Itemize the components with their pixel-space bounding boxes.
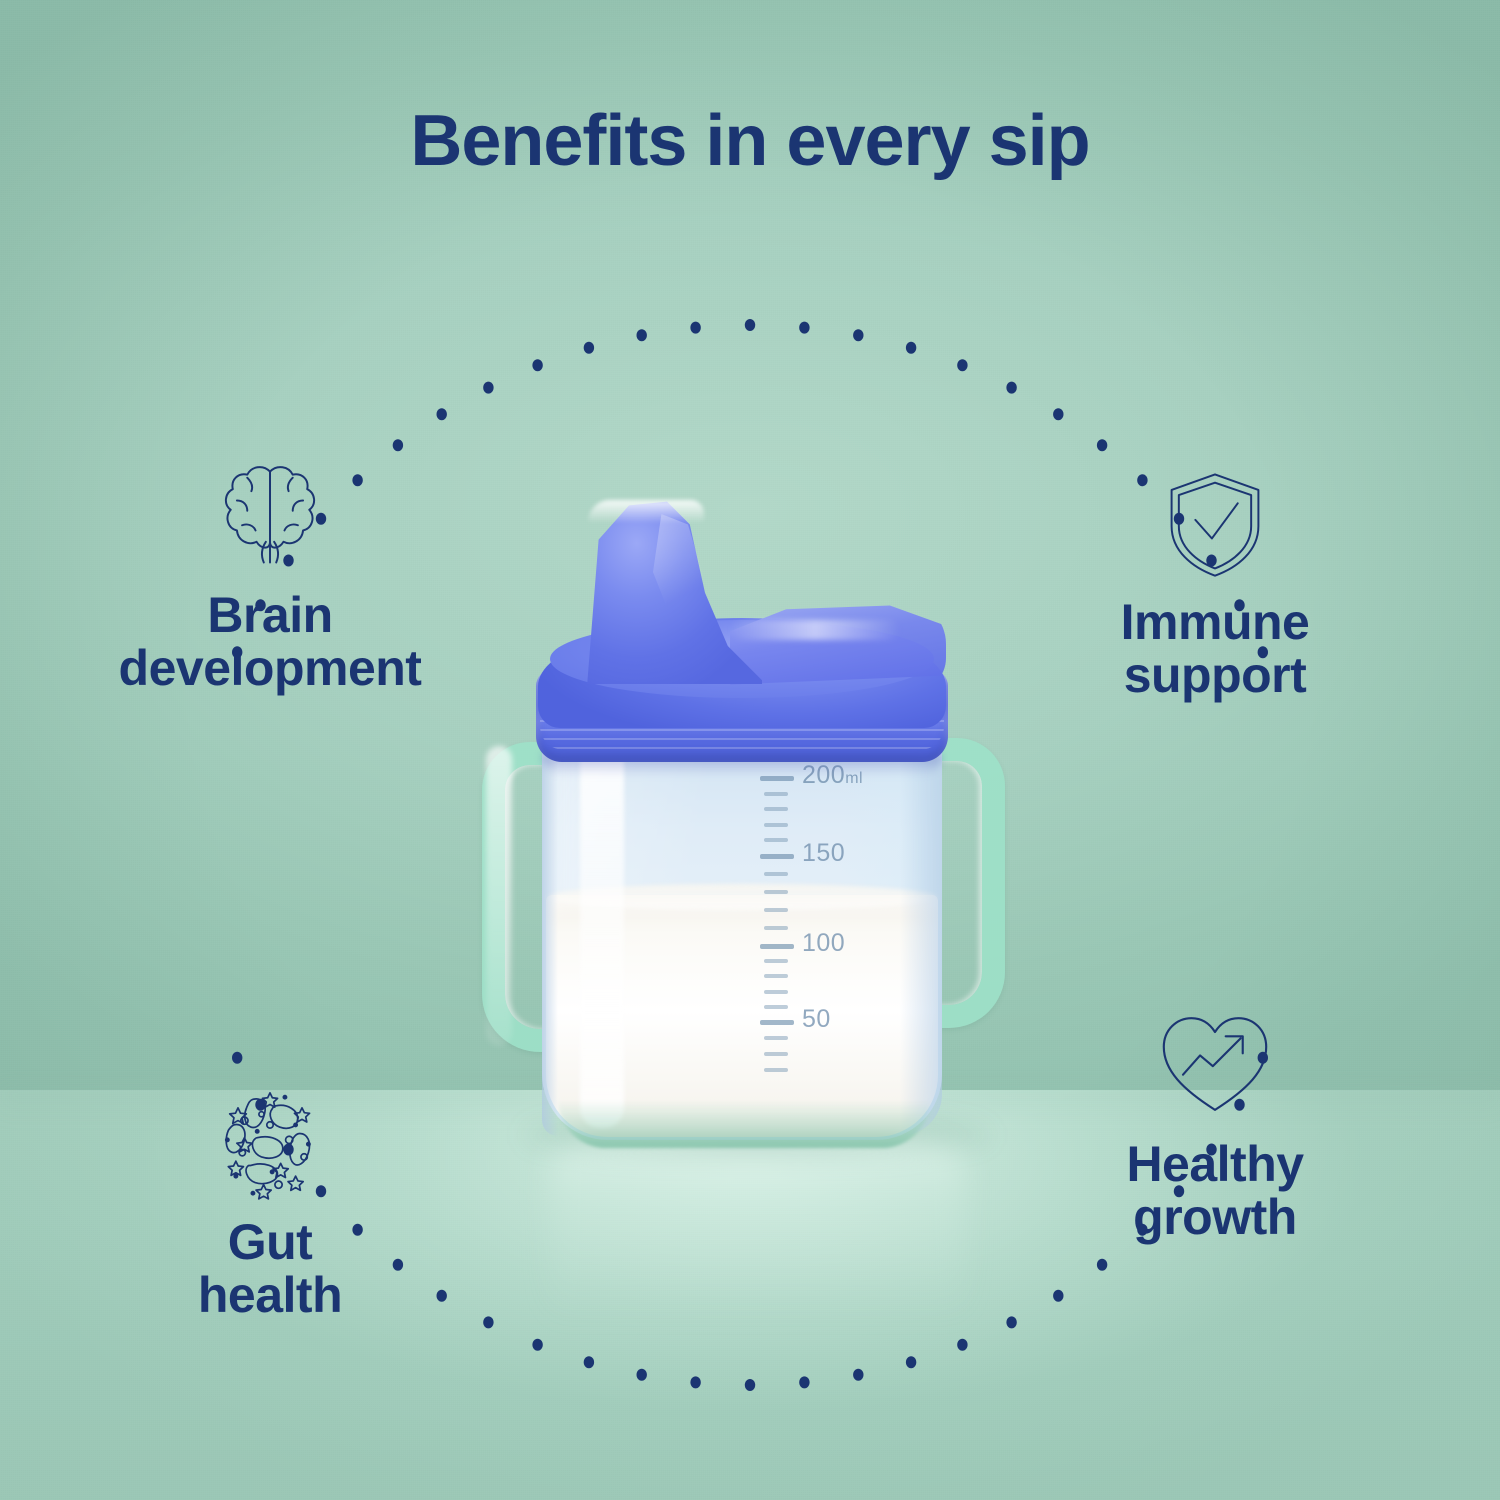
benefit-label-line1: Healthy bbox=[1126, 1136, 1303, 1192]
scale-tick-major bbox=[760, 944, 794, 949]
scale-label-100: 100 bbox=[802, 929, 845, 958]
scale-tick-major bbox=[760, 1020, 794, 1025]
cup-base bbox=[558, 1100, 930, 1148]
benefit-label-brain-development: Brain development bbox=[119, 589, 422, 695]
page-title: Benefits in every sip bbox=[0, 105, 1500, 177]
probiotic-bacteria-icon bbox=[206, 1078, 334, 1206]
brain-icon bbox=[208, 455, 332, 579]
benefit-item-gut-health: Gut health bbox=[55, 1078, 485, 1322]
cup-lid-shadow bbox=[542, 754, 942, 776]
benefit-label-line2: development bbox=[119, 640, 422, 696]
shield-check-icon bbox=[1153, 462, 1277, 586]
scale-tick-minor bbox=[764, 1005, 788, 1009]
scale-tick-major bbox=[760, 776, 794, 781]
scale-tick-minor bbox=[764, 890, 788, 894]
cup-handle-highlight bbox=[486, 746, 512, 1046]
benefit-label-line2: support bbox=[1124, 647, 1307, 703]
scale-tick-major bbox=[760, 854, 794, 859]
scale-tick-minor bbox=[764, 792, 788, 796]
scale-tick-minor bbox=[764, 823, 788, 827]
benefits-infographic: Benefits in every sip 200ml15010050 bbox=[0, 0, 1500, 1500]
benefit-label-line1: Brain bbox=[207, 587, 332, 643]
cup-lid-gloss bbox=[730, 620, 900, 640]
cup-measurement-scale: 200ml15010050 bbox=[760, 770, 950, 1100]
scale-tick-minor bbox=[764, 838, 788, 842]
benefit-label-line2: health bbox=[198, 1267, 342, 1323]
benefit-label-gut-health: Gut health bbox=[198, 1216, 342, 1322]
benefit-item-immune-support: Immune support bbox=[1000, 462, 1430, 702]
heart-growth-icon bbox=[1151, 1000, 1279, 1128]
benefit-label-immune-support: Immune support bbox=[1121, 596, 1310, 702]
benefit-label-line2: growth bbox=[1133, 1189, 1297, 1245]
scale-tick-minor bbox=[764, 872, 788, 876]
cup-body-highlight bbox=[580, 732, 624, 1128]
product-image-sippy-cup: 200ml15010050 bbox=[430, 470, 1070, 1170]
scale-tick-minor bbox=[764, 807, 788, 811]
scale-tick-minor bbox=[764, 1068, 788, 1072]
benefit-item-brain-development: Brain development bbox=[55, 455, 485, 695]
benefit-label-healthy-growth: Healthy growth bbox=[1126, 1138, 1303, 1244]
cup-edge-left bbox=[542, 722, 558, 1136]
scale-tick-minor bbox=[764, 908, 788, 912]
scale-tick-minor bbox=[764, 1036, 788, 1040]
scale-tick-minor bbox=[764, 926, 788, 930]
scale-tick-minor bbox=[764, 959, 788, 963]
cup-reflection bbox=[550, 1120, 965, 1320]
cup-spout-highlight bbox=[588, 500, 704, 522]
scale-tick-minor bbox=[764, 974, 788, 978]
benefit-item-healthy-growth: Healthy growth bbox=[1000, 1000, 1430, 1244]
benefit-label-line1: Gut bbox=[228, 1214, 313, 1270]
scale-label-150: 150 bbox=[802, 839, 845, 868]
scale-tick-minor bbox=[764, 990, 788, 994]
scale-label-50: 50 bbox=[802, 1005, 831, 1034]
scale-tick-minor bbox=[764, 1052, 788, 1056]
benefit-label-line1: Immune bbox=[1121, 594, 1310, 650]
